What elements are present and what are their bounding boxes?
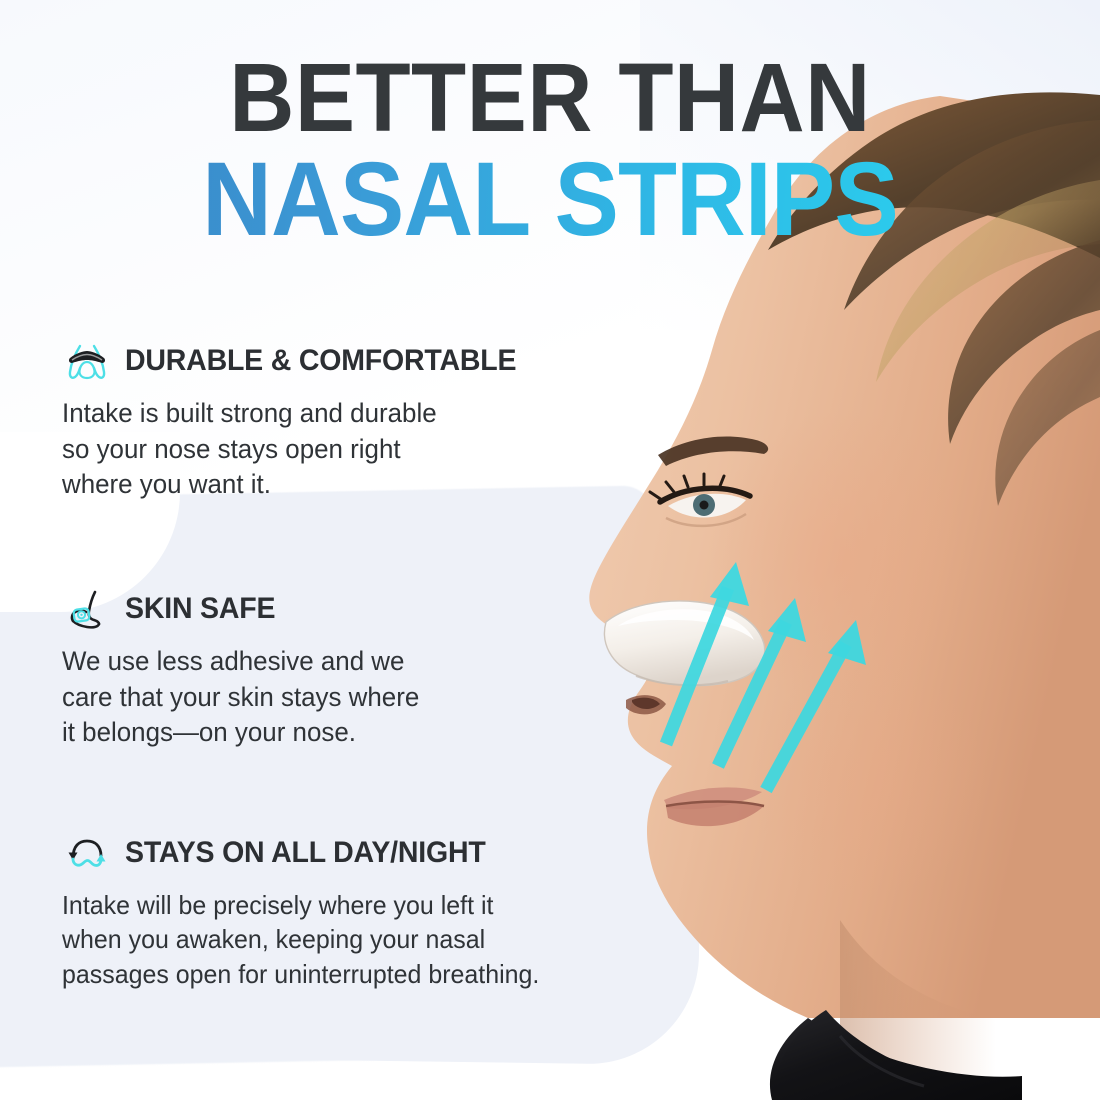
feature-title: SKIN SAFE <box>125 592 275 626</box>
feature-title: STAYS ON ALL DAY/NIGHT <box>125 836 486 870</box>
nose-with-device-front-icon <box>62 340 112 382</box>
background-topright-wash <box>640 0 1100 330</box>
feature-body-text: We use less adhesive and we care that yo… <box>62 644 638 751</box>
feature-title: DURABLE & COMFORTABLE <box>125 344 516 378</box>
day-night-cycle-icon <box>62 832 112 874</box>
nose-profile-skin-icon <box>62 588 112 630</box>
feature-body-text: Intake will be precisely where you left … <box>62 888 686 991</box>
feature-heading-row: DURABLE & COMFORTABLE <box>62 340 662 382</box>
feature-heading-row: SKIN SAFE <box>62 588 662 630</box>
feature-block-skin-safe: SKIN SAFE We use less adhesive and we ca… <box>62 588 662 751</box>
feature-heading-row: STAYS ON ALL DAY/NIGHT <box>62 832 712 874</box>
promo-image-canvas: BETTER THAN NASAL STRIPS DURABLE & COMFO… <box>0 0 1100 1100</box>
feature-block-stays-on-all-day-night: STAYS ON ALL DAY/NIGHT Intake will be pr… <box>62 832 712 991</box>
feature-body-text: Intake is built strong and durable so yo… <box>62 396 638 503</box>
feature-block-durable-comfortable: DURABLE & COMFORTABLE Intake is built st… <box>62 340 662 503</box>
